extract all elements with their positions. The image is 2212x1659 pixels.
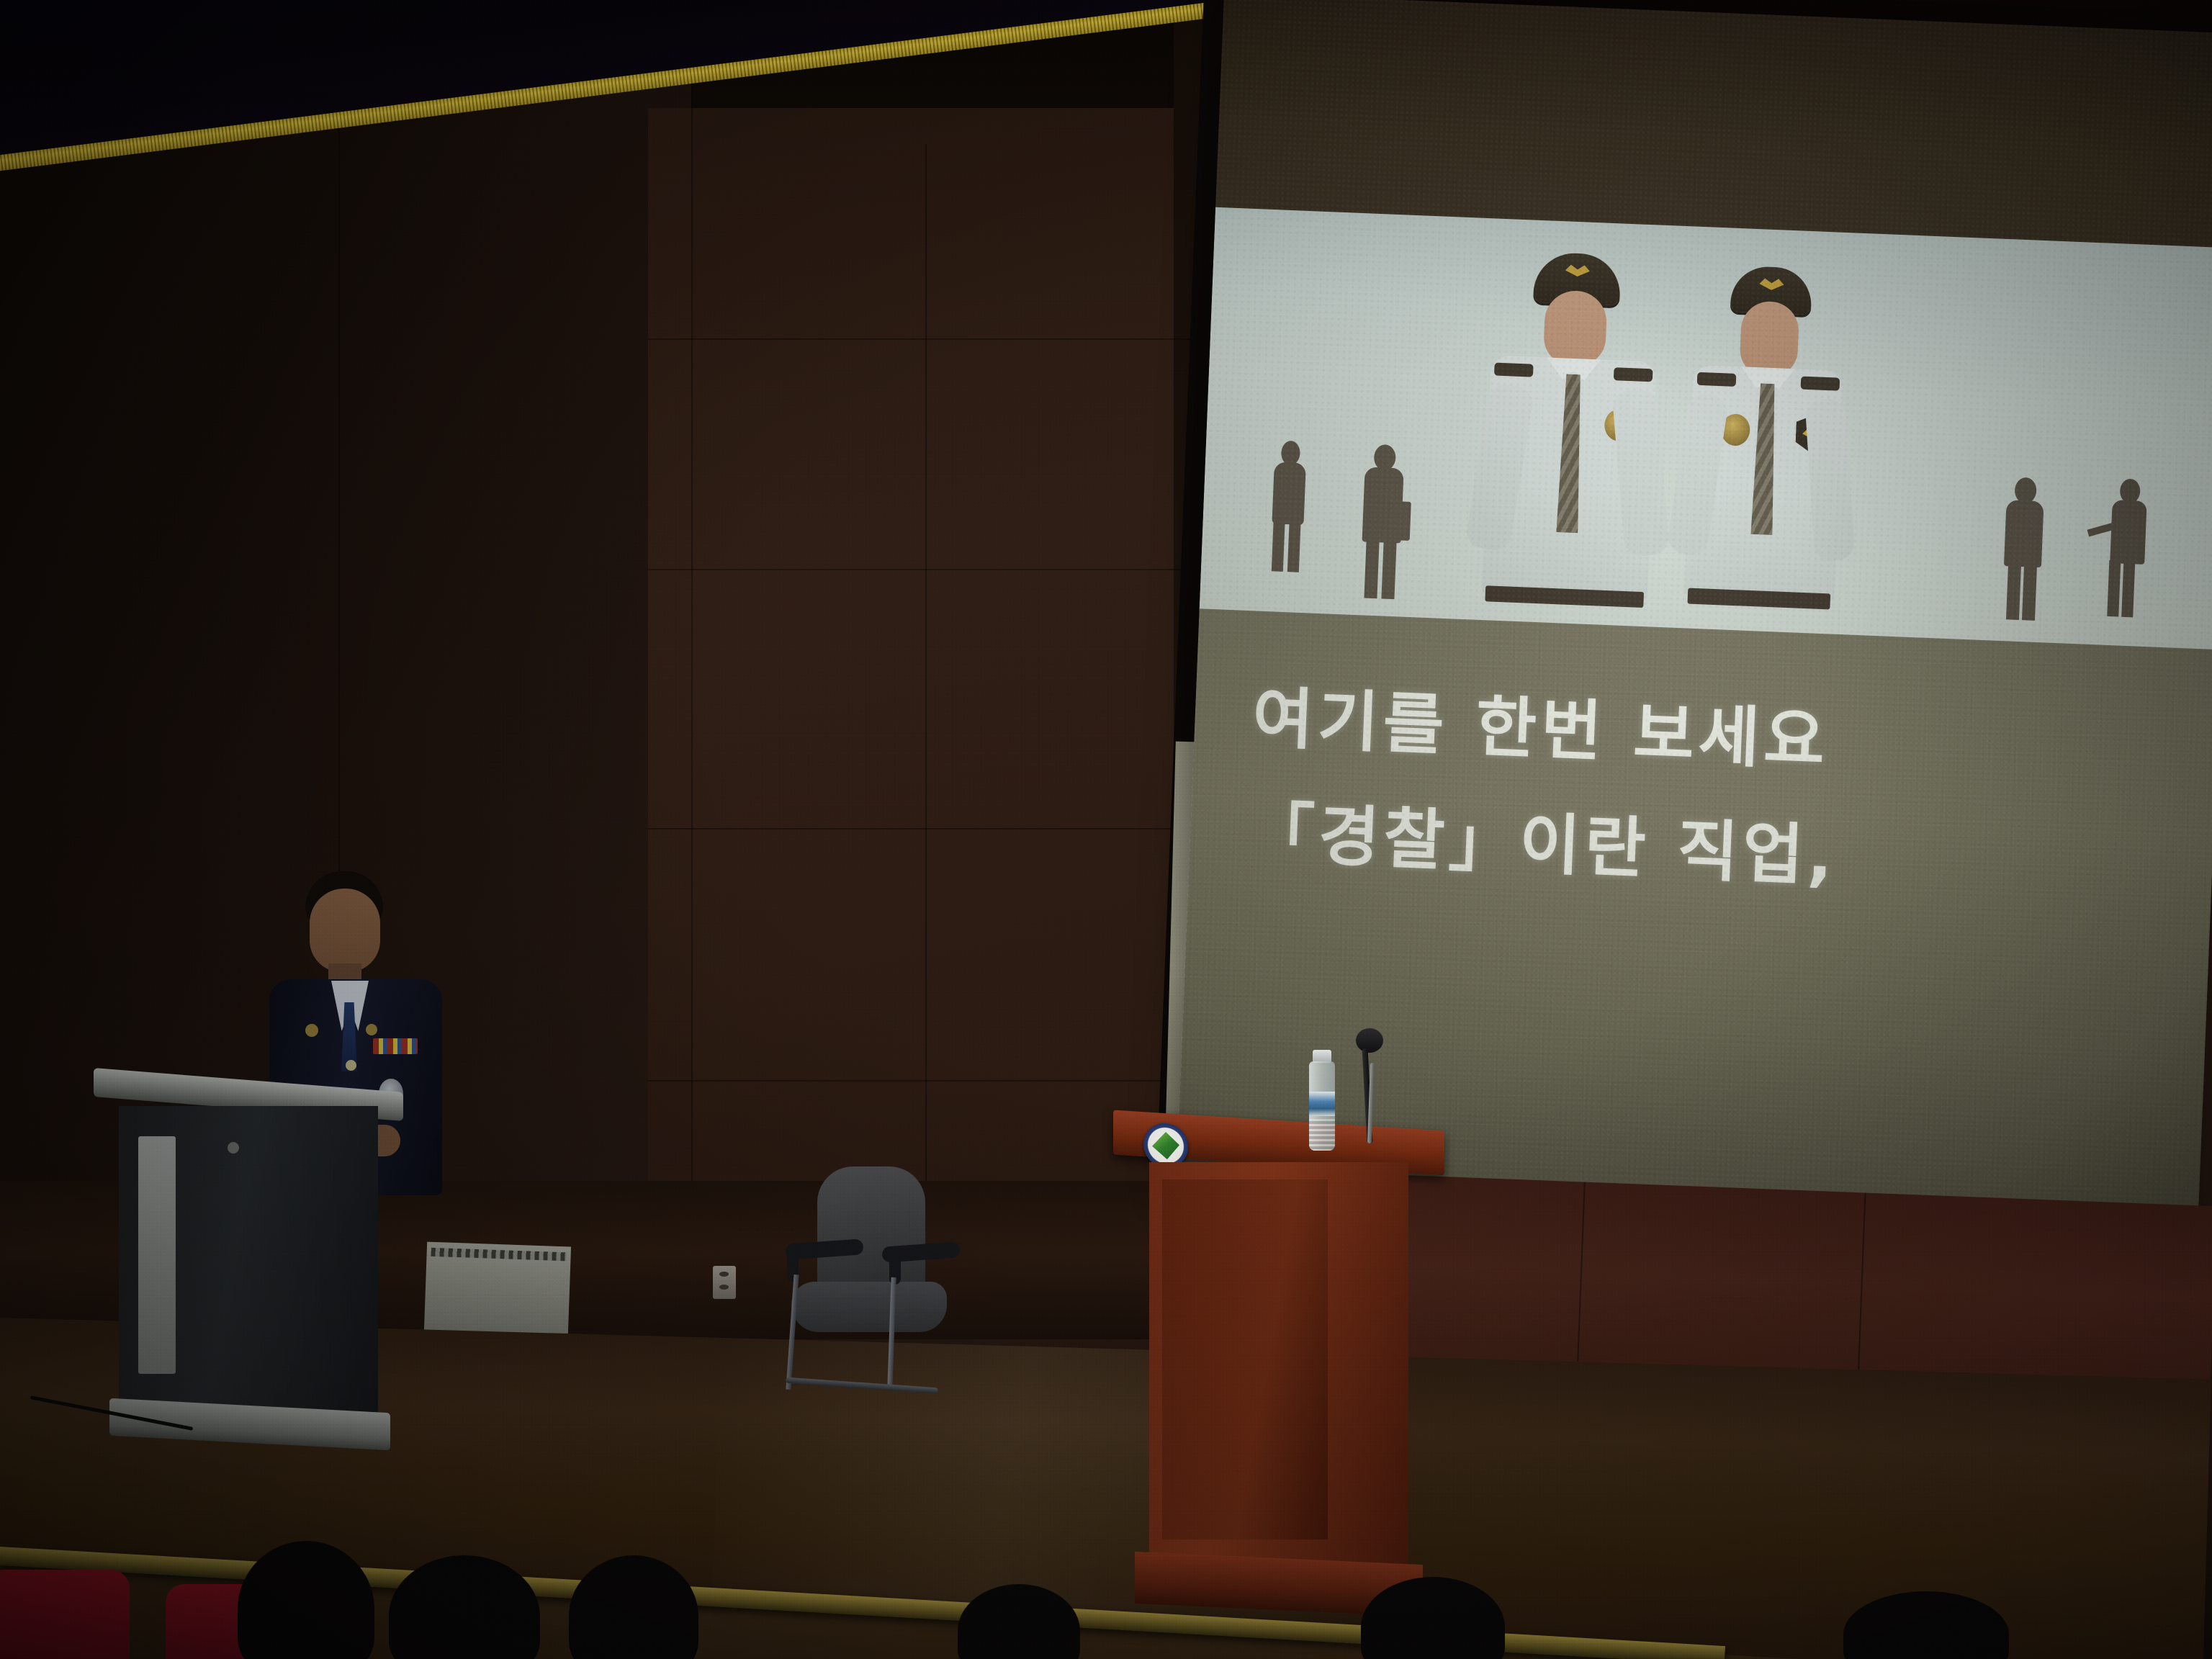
heater-grill-top	[431, 1248, 567, 1262]
presenter-jacket-button	[346, 1060, 356, 1071]
wall-power-outlet[interactable]	[713, 1266, 736, 1299]
bottle-label	[1309, 1092, 1335, 1116]
slide-top-band	[1215, 0, 2212, 250]
audience-head	[238, 1541, 374, 1659]
silhouette-person-holding-board	[2100, 478, 2156, 619]
audience-front-row	[0, 1534, 2212, 1659]
chair-leg-left	[786, 1274, 799, 1390]
wall-seam	[648, 828, 1195, 829]
auditorium-photo: 여기를 한번 보세요 「경찰」이란 직업,	[0, 0, 2212, 1659]
chair-seat	[791, 1282, 947, 1332]
crest-leaf-icon	[1152, 1131, 1179, 1160]
lectern-wood-panel-inset	[1162, 1179, 1328, 1539]
wall-panel-center	[648, 108, 1195, 1231]
silhouette-man-with-bag	[1357, 444, 1408, 598]
auditorium-seat	[0, 1570, 130, 1659]
presenter-collar-pin-right	[366, 1024, 377, 1035]
audience-head	[569, 1555, 698, 1659]
audience-head	[1843, 1591, 2009, 1659]
lectern-dark-knob[interactable]	[228, 1142, 239, 1154]
audience-head	[1361, 1577, 1505, 1659]
male-police-officer	[1455, 246, 1686, 651]
audience-head	[958, 1584, 1080, 1659]
wall-seam	[648, 338, 1195, 340]
silhouette-man-hand-on-hip	[1999, 477, 2048, 619]
lectern-dark[interactable]	[94, 1080, 403, 1455]
audience-head	[389, 1555, 540, 1659]
water-bottle[interactable]	[1307, 1050, 1337, 1151]
presenter-collar-pin-left	[305, 1024, 318, 1037]
silhouette-woman-hand-on-hip	[1266, 440, 1311, 571]
wall-seam	[925, 144, 927, 1224]
presenter-ribbon-bar	[373, 1038, 418, 1054]
gooseneck-microphone[interactable]	[1343, 1028, 1393, 1143]
female-police-officer	[1656, 261, 1873, 651]
lectern-dark-trim-strip	[138, 1136, 176, 1374]
visitor-chair[interactable]	[774, 1166, 968, 1419]
presenter-head	[310, 889, 380, 972]
wall-seam	[648, 1080, 1195, 1082]
lectern-wood-body	[1149, 1162, 1408, 1565]
slide-photo-area	[1200, 207, 2212, 652]
wall-seam	[648, 569, 1195, 570]
wall-seam	[691, 86, 693, 1238]
chair-skid-base	[786, 1377, 938, 1394]
bottle-ribs	[1309, 1119, 1335, 1151]
projection-screen: 여기를 한번 보세요 「경찰」이란 직업,	[1176, 0, 2212, 1228]
microphone-head	[1356, 1028, 1383, 1053]
